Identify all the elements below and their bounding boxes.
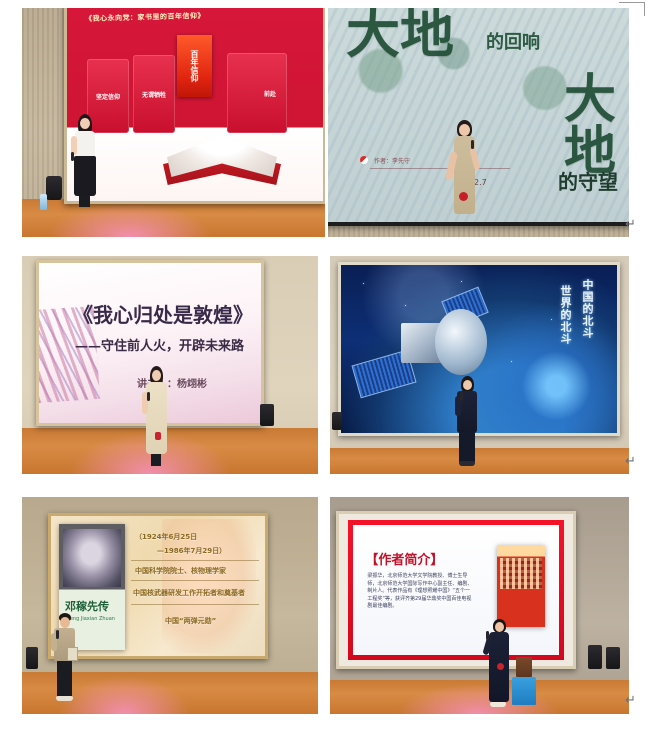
photo-row1-right[interactable]: 大地 的回响 大地 的守望 作者：李先守 2.7 bbox=[328, 8, 629, 237]
presenter-4-shoes bbox=[459, 461, 475, 466]
stage-speaker-right-2 bbox=[606, 647, 620, 669]
slide-2-title-main: 大地 bbox=[346, 8, 454, 60]
photo-row3-left[interactable]: 邓稼先传 Deng Jiaxian Zhuan （1924年6月25日 —198… bbox=[22, 497, 318, 714]
slide-6-content-area: 【作者简介】 梁振华，北京师范大学文学院教授、博士生导师，北京师范大学国际写作中… bbox=[353, 525, 558, 655]
stage-prop-stool bbox=[512, 677, 536, 705]
projection-screen-1: 《我心永向党：家书里的百年信仰》 坚定信仰 无谓牺牲 前赴 百年信仰 bbox=[64, 8, 325, 204]
slide-6-heading: 【作者简介】 bbox=[365, 549, 443, 568]
presenter-5-held-book bbox=[67, 647, 78, 661]
slide-5-rule-3 bbox=[131, 604, 259, 605]
projection-screen-5: 邓稼先传 Deng Jiaxian Zhuan （1924年6月25日 —198… bbox=[48, 513, 268, 659]
presenter-4 bbox=[452, 376, 482, 468]
presenter-5-microphone bbox=[56, 630, 59, 639]
satellite-dish bbox=[435, 309, 487, 375]
slide-5-rule-2 bbox=[131, 580, 259, 581]
photo-row2-right[interactable]: 中国的北斗 世界的北斗 bbox=[330, 256, 629, 474]
slide-3-subtitle: ——守住前人火，开辟未来路 bbox=[75, 335, 244, 354]
presenter-5-head bbox=[60, 617, 70, 628]
slide-1-panel-2-label: 无谓牺牲 bbox=[142, 90, 166, 99]
slide-6-body-text: 梁振华，北京师范大学文学院教授、博士生导师，北京师范大学国际写作中心副主任、编剧… bbox=[367, 573, 473, 611]
slide-1-panel-3-label: 前赴 bbox=[264, 89, 276, 98]
presenter-1-skirt bbox=[74, 156, 96, 196]
pilcrow-row-1: ↵ bbox=[625, 218, 636, 231]
auditorium-scene-2: 大地 的回响 大地 的守望 作者：李先守 2.7 bbox=[328, 8, 629, 237]
presenter-5-trousers bbox=[57, 661, 72, 697]
presenter-6-microphone bbox=[486, 631, 489, 640]
water-bottle bbox=[40, 194, 47, 210]
slide-5-line-5: 中国“两弹元勋” bbox=[165, 616, 216, 626]
slide-2-title-echo: 的回响 bbox=[486, 28, 540, 54]
slide-2-underline bbox=[370, 168, 510, 169]
photo-row1-left[interactable]: 《我心永向党：家书里的百年信仰》 坚定信仰 无谓牺牲 前赴 百年信仰 bbox=[22, 8, 325, 237]
star-field-dot bbox=[551, 319, 552, 320]
slide-1-book-cover: 百年信仰 bbox=[177, 35, 212, 97]
stage-speaker-left bbox=[46, 176, 62, 200]
presenter-6-shoes bbox=[490, 702, 506, 707]
slide-1-panel-1-label: 坚定信仰 bbox=[96, 92, 120, 101]
slide-2-byline: 作者：李先守 bbox=[374, 156, 410, 165]
presenter-3-microphone bbox=[147, 392, 150, 401]
slide-2-title-lower: 大地 bbox=[564, 74, 629, 178]
presenter-3-head bbox=[152, 370, 161, 381]
slide-3-title: 《我心归处是敦煌》 bbox=[73, 299, 253, 328]
presenter-1-head bbox=[80, 118, 90, 129]
slide-1-panel-3: 前赴 bbox=[227, 53, 287, 133]
auditorium-scene-4: 中国的北斗 世界的北斗 bbox=[330, 256, 629, 474]
slide-5-line-1: （1924年6月25日 bbox=[135, 532, 197, 542]
pilcrow-row-2: ↵ bbox=[625, 455, 636, 468]
photo-row3-right[interactable]: 【作者简介】 梁振华，北京师范大学文学院教授、博士生导师，北京师范大学国际写作中… bbox=[330, 497, 629, 714]
auditorium-scene-1: 《我心永向党：家书里的百年信仰》 坚定信仰 无谓牺牲 前赴 百年信仰 bbox=[22, 8, 325, 237]
star-field-dot bbox=[405, 305, 406, 306]
presenter-4-head bbox=[463, 380, 472, 390]
presenter-1-top bbox=[75, 131, 95, 157]
presenter-2-head bbox=[459, 124, 470, 136]
projection-screen-6: 【作者简介】 梁振华，北京师范大学文学院教授、博士生导师，北京师范大学国际写作中… bbox=[336, 511, 576, 669]
star-field-dot bbox=[363, 283, 364, 284]
slide-4-line-1: 中国的北斗 bbox=[579, 279, 595, 339]
presenter-3-legs bbox=[151, 454, 161, 466]
slide-6-book-cover bbox=[497, 545, 545, 627]
slide-1: 《我心永向党：家书里的百年信仰》 坚定信仰 无谓牺牲 前赴 百年信仰 bbox=[67, 8, 323, 201]
slide-5-line-3: 中国科学院院士、核物理学家 bbox=[135, 566, 226, 576]
presenter-2-number-badge bbox=[459, 192, 468, 201]
stage-prop-box bbox=[516, 657, 532, 677]
auditorium-scene-5: 邓稼先传 Deng Jiaxian Zhuan （1924年6月25日 —198… bbox=[22, 497, 318, 714]
presenter-1-microphone bbox=[71, 152, 74, 161]
slide-5: 邓稼先传 Deng Jiaxian Zhuan （1924年6月25日 —198… bbox=[51, 516, 265, 656]
presenter-5 bbox=[50, 613, 80, 709]
star-field-dot bbox=[511, 361, 512, 362]
presenter-6-head bbox=[495, 622, 504, 632]
star-field-dot bbox=[461, 281, 462, 282]
presenter-5-shoes bbox=[56, 696, 73, 701]
slide-6-book-art bbox=[500, 558, 542, 589]
stage-speaker-left bbox=[26, 647, 38, 669]
slide-1-title: 《我心永向党：家书里的百年信仰》 bbox=[85, 10, 235, 24]
presenter-4-trousers bbox=[459, 432, 475, 462]
slide-5-line-4: 中国核武器研发工作开拓者和奠基者 bbox=[133, 588, 245, 598]
slide-5-portrait bbox=[63, 529, 121, 587]
presenter-4-microphone bbox=[460, 392, 463, 401]
slide-5-book-title: 邓稼先传 bbox=[65, 598, 109, 614]
slide-5-line-2: —1986年7月29日） bbox=[157, 546, 226, 556]
presenter-1 bbox=[68, 114, 102, 210]
slide-1-panel-2: 无谓牺牲 bbox=[133, 55, 175, 133]
presenter-6-badge bbox=[497, 663, 504, 670]
slide-5-rule-1 bbox=[131, 560, 259, 561]
stage-speaker-right bbox=[260, 404, 274, 426]
slide-1-book-title: 百年信仰 bbox=[189, 50, 200, 82]
presenter-2 bbox=[446, 120, 482, 232]
presenter-1-legs bbox=[79, 195, 90, 207]
presenter-3 bbox=[140, 366, 172, 470]
slide-4-line-2: 世界的北斗 bbox=[557, 285, 573, 345]
presenter-6 bbox=[484, 619, 514, 711]
auditorium-scene-6: 【作者简介】 梁振华，北京师范大学文学院教授、博士生导师，北京师范大学国际写作中… bbox=[330, 497, 629, 714]
auditorium-scene-3: 《我心归处是敦煌》 ——守住前人火，开辟未来路 讲书人：杨翊彬 bbox=[22, 256, 318, 474]
document-page: 《我心永向党：家书里的百年信仰》 坚定信仰 无谓牺牲 前赴 百年信仰 bbox=[0, 0, 651, 739]
presenter-2-microphone bbox=[471, 140, 474, 149]
slide-6: 【作者简介】 梁振华，北京师范大学文学院教授、博士生导师，北京师范大学国际写作中… bbox=[339, 514, 573, 666]
stage-speaker-right bbox=[588, 645, 602, 669]
photo-row2-left[interactable]: 《我心归处是敦煌》 ——守住前人火，开辟未来路 讲书人：杨翊彬 bbox=[22, 256, 318, 474]
slide-2-title-watch: 的守望 bbox=[558, 166, 618, 195]
presenter-3-badge bbox=[155, 432, 161, 440]
stage-speaker-left bbox=[332, 412, 342, 430]
slide-6-red-frame: 【作者简介】 梁振华，北京师范大学文学院教授、博士生导师，北京师范大学国际写作中… bbox=[348, 520, 563, 660]
pilcrow-row-3: ↵ bbox=[625, 694, 636, 707]
slide-2-red-marker bbox=[360, 156, 368, 164]
